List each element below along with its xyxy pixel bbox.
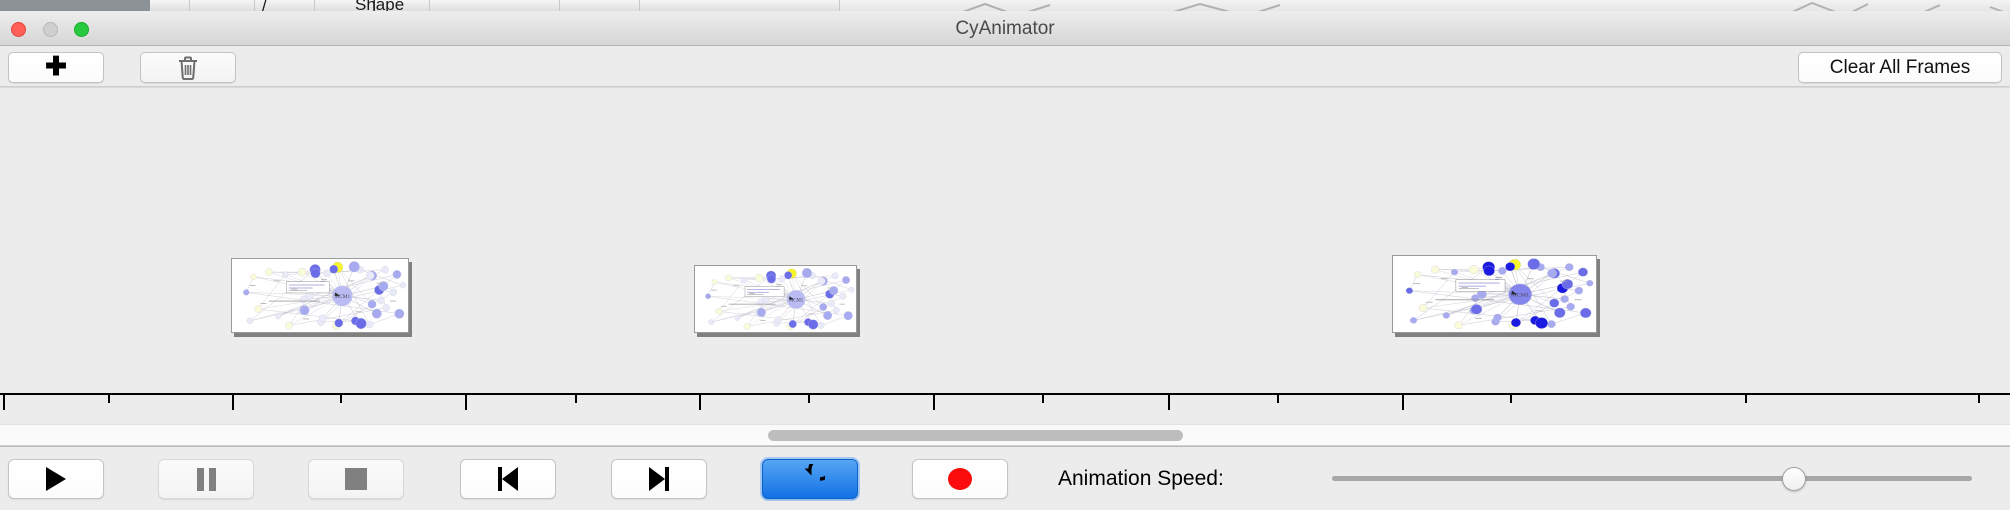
timeline-tick-minor xyxy=(1978,395,1980,403)
slider-thumb[interactable] xyxy=(1782,467,1806,491)
stop-button[interactable] xyxy=(308,459,404,499)
frame-toolbar: ✚ Clear All Frames xyxy=(0,46,2010,87)
timeline-tick-minor xyxy=(808,395,810,403)
loop-icon xyxy=(795,464,825,494)
timeline-tick-major xyxy=(465,395,467,410)
timeline-tick-minor xyxy=(1042,395,1044,403)
clear-all-frames-button[interactable]: Clear All Frames xyxy=(1798,52,2002,83)
trash-icon xyxy=(176,55,200,81)
timeline-tick-minor xyxy=(108,395,110,403)
playback-toolbar: Animation Speed: xyxy=(0,446,2010,510)
timeline-frame-3[interactable]: MCM1 xyxy=(1392,255,1597,333)
window-title: CyAnimator xyxy=(0,11,2010,46)
timeline-scrollbar[interactable] xyxy=(0,424,2010,446)
timeline-tick-minor xyxy=(1510,395,1512,403)
pause-button[interactable] xyxy=(158,459,254,499)
timeline-frame-2[interactable]: MCM1 xyxy=(694,265,857,333)
background-cell xyxy=(190,0,255,11)
frame-thumbnail-image[interactable]: MCM1 xyxy=(694,265,857,333)
background-cell xyxy=(430,0,560,11)
background-cell xyxy=(150,0,190,11)
clear-all-frames-label: Clear All Frames xyxy=(1830,57,1970,79)
frame-thumbnail-image[interactable]: MCM1 xyxy=(1392,255,1597,333)
timeline-tick-label: 14 xyxy=(454,413,477,414)
timeline-tick-major xyxy=(1168,395,1170,410)
background-window-strip: / | Shape xyxy=(0,0,2010,11)
background-network-fragment xyxy=(1160,0,1300,11)
background-dark-tab xyxy=(0,0,150,11)
timeline-tick-minor xyxy=(1745,395,1747,403)
delete-frame-button[interactable] xyxy=(140,52,236,83)
background-window-label: Shape xyxy=(355,0,404,11)
timeline-tick-label: 17 xyxy=(1157,413,1180,414)
timeline-tick-minor xyxy=(1277,395,1279,403)
timeline-tick-label: 16 xyxy=(922,413,945,414)
window-titlebar: CyAnimator xyxy=(0,11,2010,46)
cyanimator-window: / | Shape CyAnimator ✚ xyxy=(0,0,2010,510)
timeline-frame-1[interactable]: MCM1 xyxy=(231,258,409,333)
play-icon xyxy=(46,467,66,491)
frame-thumbnail-image[interactable]: MCM1 xyxy=(231,258,409,333)
timeline-tick-label: 15 xyxy=(688,413,711,414)
animation-speed-slider[interactable] xyxy=(1332,459,1972,499)
timeline-tick-minor xyxy=(575,395,577,403)
timeline-tick-major xyxy=(3,395,5,410)
skip-to-end-button[interactable] xyxy=(611,459,707,499)
background-cell xyxy=(560,0,640,11)
timeline-tick-label: 2 xyxy=(0,413,10,414)
skip-start-icon xyxy=(498,467,518,491)
plus-icon: ✚ xyxy=(45,53,67,79)
timeline-scrollbar-thumb[interactable] xyxy=(768,430,1183,441)
play-button[interactable] xyxy=(8,459,104,499)
pause-icon xyxy=(197,468,216,491)
stop-icon xyxy=(345,468,367,490)
record-button[interactable] xyxy=(912,459,1008,499)
timeline-tick-label: 18 xyxy=(1391,413,1414,414)
timeline-tick-major xyxy=(933,395,935,410)
record-icon xyxy=(948,468,972,490)
loop-button[interactable] xyxy=(762,459,858,499)
background-network-fragment xyxy=(1550,0,2010,11)
background-cell xyxy=(640,0,840,11)
add-frame-button[interactable]: ✚ xyxy=(8,52,104,83)
timeline-panel[interactable]: MCM1 MCM1 MCM1 2131415161718 Seconds xyxy=(0,87,2010,414)
timeline-axis xyxy=(0,393,2010,395)
timeline-tick-minor xyxy=(340,395,342,403)
background-network-fragment xyxy=(955,0,1075,11)
animation-speed-label: Animation Speed: xyxy=(1058,459,1224,499)
slider-track xyxy=(1332,476,1972,481)
timeline-tick-major xyxy=(232,395,234,410)
skip-end-icon xyxy=(649,467,669,491)
timeline-tick-major xyxy=(1402,395,1404,410)
skip-to-start-button[interactable] xyxy=(460,459,556,499)
timeline-tick-label: 13 xyxy=(221,413,244,414)
background-glyph: / xyxy=(262,0,267,11)
timeline-tick-major xyxy=(699,395,701,410)
